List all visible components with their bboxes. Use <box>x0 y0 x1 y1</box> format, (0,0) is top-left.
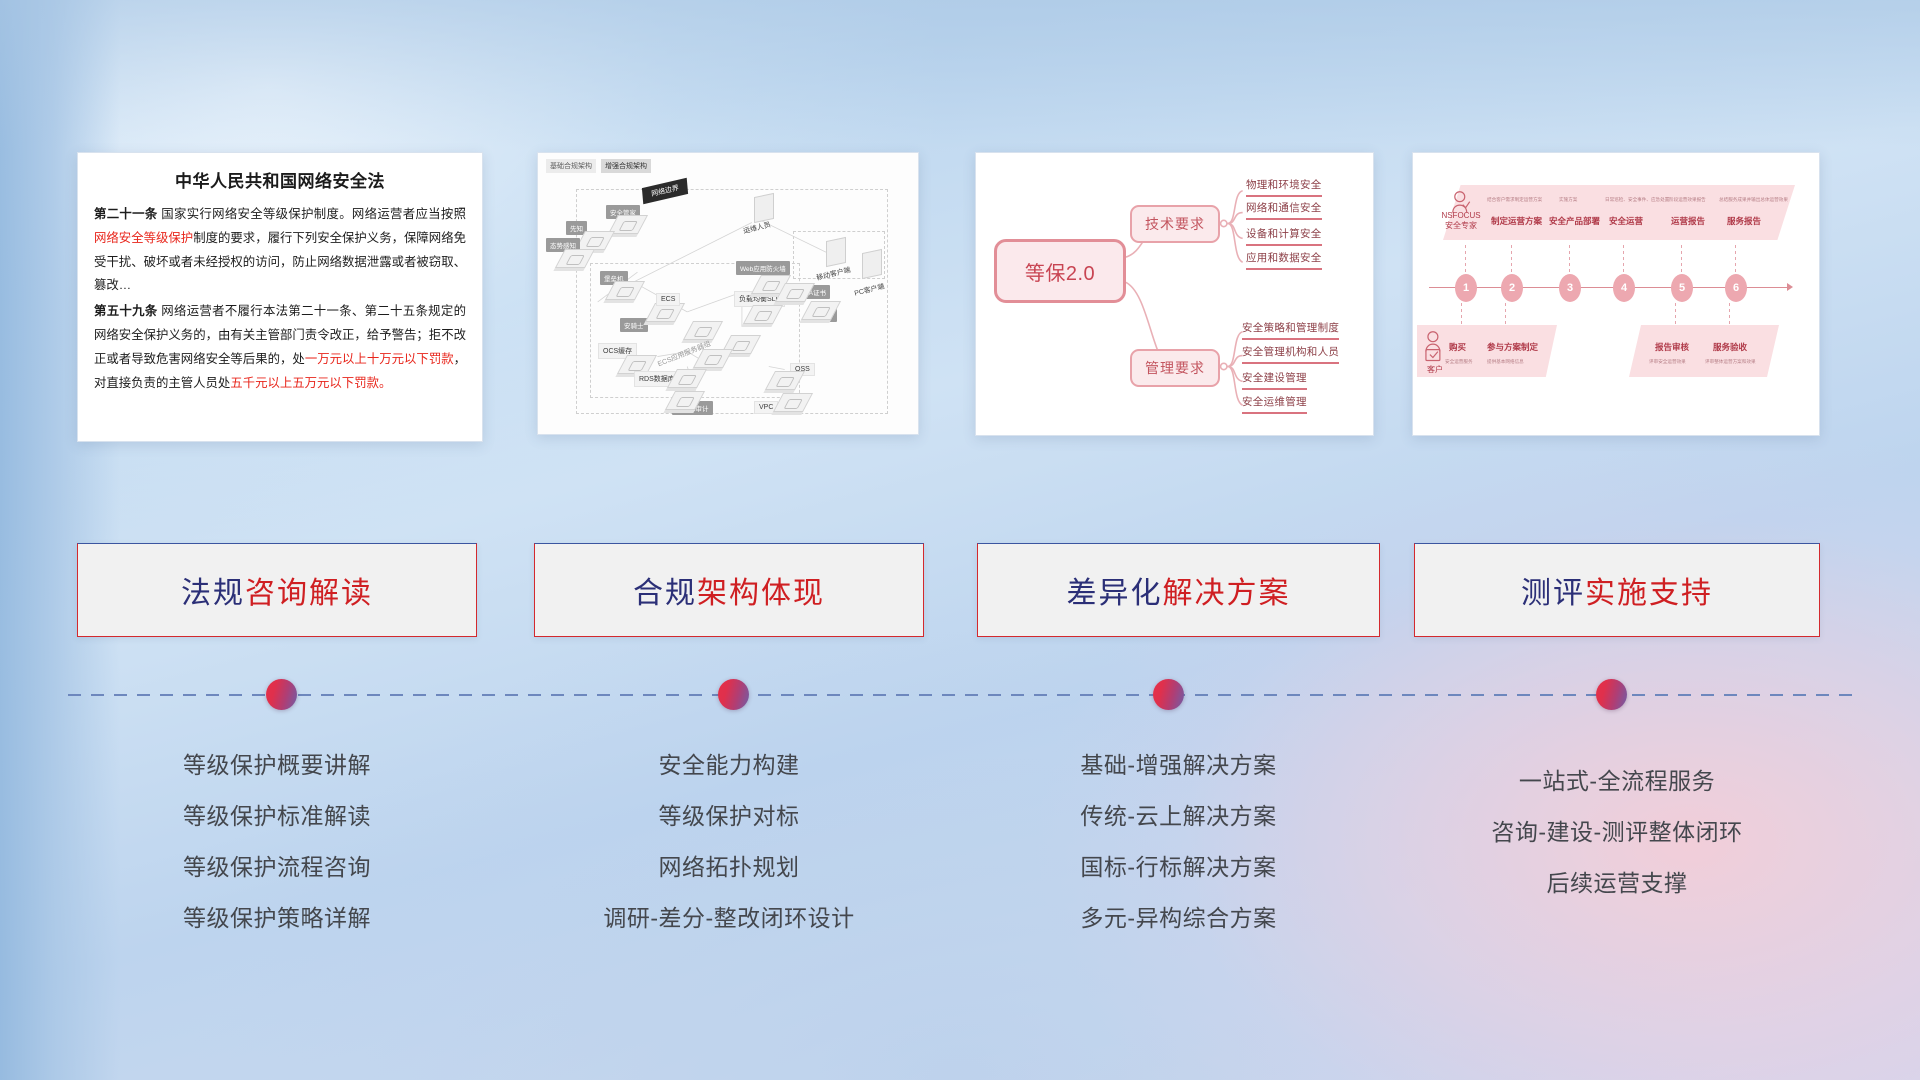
timeline-marker-3[interactable] <box>1153 679 1184 710</box>
node-ops-staff-icon <box>754 193 774 223</box>
section-title-box-2[interactable]: 合规架构体现 <box>534 543 924 637</box>
mindmap-branch-management: 管理要求 <box>1130 349 1220 387</box>
mindmap-leaf-mgmt-2: 安全建设管理 <box>1242 370 1307 390</box>
card-cybersecurity-law[interactable]: 中华人民共和国网络安全法 第二十一条 国家实行网络安全等级保护制度。网络运营者应… <box>77 152 483 442</box>
list-item: 等级保护策略详解 <box>77 893 477 944</box>
section-items-2: 安全能力构建 等级保护对标 网络拓扑规划 调研-差分-整改闭环设计 <box>534 740 924 944</box>
node-pc-client-icon <box>862 249 882 279</box>
section-title-3: 差异化解决方案 <box>1067 568 1291 612</box>
timeline-tick-b5 <box>1675 303 1676 327</box>
article-59-penalty-2: 五千元以上五万元以下罚款。 <box>230 376 391 390</box>
timeline-step-2[interactable]: 2 <box>1501 274 1523 302</box>
preview-cards-row: 中华人民共和国网络安全法 第二十一条 国家实行网络安全等级保护制度。网络运营者应… <box>0 152 1920 442</box>
timeline-tick-b2 <box>1505 303 1506 327</box>
list-item: 等级保护标准解读 <box>77 791 477 842</box>
node-anqishi: 安骑士 <box>620 318 648 332</box>
mindmap-leaf-tech-2: 设备和计算安全 <box>1246 226 1322 246</box>
article-59-penalty-1: 一万元以上十万元以下罚款 <box>305 352 454 366</box>
section-title-box-1[interactable]: 法规咨询解读 <box>77 543 477 637</box>
list-item: 多元-异构综合方案 <box>977 893 1380 944</box>
mindmap: 等保2.0 技术要求 管理要求 物理和环境安全 网络和通信安全 设备和计算安全 … <box>976 153 1373 435</box>
card-compliance-architecture[interactable]: 基础合规架构 增强合规架构 网络边界 安全管家 先知 态势感知 <box>537 152 919 435</box>
timeline-step-4[interactable]: 4 <box>1613 274 1635 302</box>
list-item: 调研-差分-整改闭环设计 <box>534 893 924 944</box>
list-item: 等级保护流程咨询 <box>77 842 477 893</box>
mindmap-leaf-mgmt-3: 安全运维管理 <box>1242 394 1307 414</box>
nsfocus-role: 安全专家 <box>1445 221 1477 230</box>
article-21-part1: 国家实行网络安全等级保护制度。网络运营者应当按照 <box>158 207 466 221</box>
list-item: 等级保护概要讲解 <box>77 740 477 791</box>
timeline-bottom-sub-0: 安全运营服务 <box>1445 359 1473 365</box>
node-ecs: ECS <box>656 293 680 306</box>
list-item: 等级保护对标 <box>534 791 924 842</box>
timeline-top-sub-3: 阶段运营效果报告 <box>1669 197 1706 203</box>
timeline-bottom-title-2: 报告审核 <box>1655 341 1689 353</box>
mindmap-leaf-tech-3: 应用和数据安全 <box>1246 250 1322 270</box>
section-title-1-red: 咨询解读 <box>245 577 373 610</box>
article-59-label: 第五十九条 <box>94 304 158 318</box>
timeline-step-6[interactable]: 6 <box>1725 274 1747 302</box>
card-nsfocus-service-timeline[interactable]: NSFOCUS 安全专家 客户 结合客户需求制定运营方案 制定运营方案 实施方案… <box>1412 152 1820 436</box>
timeline-dashed-line <box>68 694 1858 696</box>
timeline-top-sub-2: 日常巡检、安全事件、应急处置 <box>1605 197 1669 203</box>
timeline-top-title-4: 服务报告 <box>1727 215 1761 227</box>
timeline-arrow-icon <box>1787 283 1793 291</box>
timeline-top-title-3: 运营报告 <box>1671 215 1705 227</box>
section-title-4-navy: 测评 <box>1521 577 1585 610</box>
law-document: 中华人民共和国网络安全法 第二十一条 国家实行网络安全等级保护制度。网络运营者应… <box>78 153 482 406</box>
section-title-4-red: 实施支持 <box>1585 577 1713 610</box>
section-items-row: 等级保护概要讲解 等级保护标准解读 等级保护流程咨询 等级保护策略详解 安全能力… <box>0 740 1920 970</box>
section-title-2: 合规架构体现 <box>633 568 825 612</box>
timeline-bottom-title-3: 服务验收 <box>1713 341 1747 353</box>
timeline-tick-2 <box>1511 245 1512 277</box>
mindmap-leaf-mgmt-1: 安全管理机构和人员 <box>1242 344 1339 364</box>
mindmap-root-node: 等保2.0 <box>994 239 1126 303</box>
timeline-bottom-sub-3: 评审整体运营方案和效果 <box>1705 359 1756 365</box>
architecture-diagram: 基础合规架构 增强合规架构 网络边界 安全管家 先知 态势感知 <box>538 153 918 434</box>
list-item: 安全能力构建 <box>534 740 924 791</box>
article-21-highlight: 网络安全等级保护 <box>94 231 193 245</box>
section-title-3-red: 解决方案 <box>1163 577 1291 610</box>
section-title-1-navy: 法规 <box>181 577 245 610</box>
law-article-59: 第五十九条 网络运营者不履行本法第二十一条、第二十五条规定的网络安全保护义务的，… <box>94 300 466 395</box>
timeline-step-1[interactable]: 1 <box>1455 274 1477 302</box>
nsfocus-name: NSFOCUS <box>1441 211 1480 220</box>
section-title-2-red: 架构体现 <box>697 577 825 610</box>
timeline-top-title-1: 安全产品部署 <box>1549 215 1600 227</box>
timeline-top-sub-0: 结合客户需求制定运营方案 <box>1487 197 1542 203</box>
section-titles-row: 法规咨询解读 合规架构体现 差异化解决方案 测评实施支持 <box>0 543 1920 641</box>
list-item: 国标-行标解决方案 <box>977 842 1380 893</box>
node-waf: Web应用防火墙 <box>736 261 790 275</box>
node-mobile-client-icon <box>826 237 846 267</box>
timeline-step-5[interactable]: 5 <box>1671 274 1693 302</box>
timeline-tick-5 <box>1681 245 1682 277</box>
background-top-glow <box>0 0 1920 150</box>
section-items-1: 等级保护概要讲解 等级保护标准解读 等级保护流程咨询 等级保护策略详解 <box>77 740 477 944</box>
timeline-tick-b6 <box>1729 303 1730 327</box>
law-title: 中华人民共和国网络安全法 <box>94 167 466 192</box>
timeline-tick-b1 <box>1461 303 1462 327</box>
section-title-box-3[interactable]: 差异化解决方案 <box>977 543 1380 637</box>
mindmap-leaf-mgmt-0: 安全策略和管理制度 <box>1242 320 1339 340</box>
section-title-3-navy: 差异化 <box>1067 577 1163 610</box>
mindmap-branch-technical: 技术要求 <box>1130 205 1220 243</box>
timeline-bottom-sub-1: 提供基本网络信息 <box>1487 359 1524 365</box>
timeline-top-sub-1: 实施方案 <box>1559 197 1577 203</box>
timeline-tick-1 <box>1465 245 1466 277</box>
list-item: 一站式-全流程服务 <box>1414 756 1820 807</box>
timeline-top-title-2: 安全运营 <box>1609 215 1643 227</box>
timeline-top-sub-4: 总结服务成果并输出总体运营效果 <box>1719 197 1788 203</box>
section-title-2-navy: 合规 <box>633 577 697 610</box>
timeline-bottom-sub-2: 评审安全运营效果 <box>1649 359 1686 365</box>
section-title-1: 法规咨询解读 <box>181 568 373 612</box>
timeline-marker-4[interactable] <box>1596 679 1627 710</box>
list-item: 基础-增强解决方案 <box>977 740 1380 791</box>
list-item: 后续运营支撑 <box>1414 858 1820 909</box>
list-item: 咨询-建设-测评整体闭环 <box>1414 807 1820 858</box>
timeline-top-title-0: 制定运营方案 <box>1491 215 1542 227</box>
mindmap-leaf-tech-0: 物理和环境安全 <box>1246 177 1322 197</box>
timeline-tick-6 <box>1735 245 1736 277</box>
article-21-label: 第二十一条 <box>94 207 158 221</box>
nsfocus-expert-label: NSFOCUS 安全专家 <box>1439 211 1483 231</box>
timeline-marker-1[interactable] <box>266 679 297 710</box>
law-article-21: 第二十一条 国家实行网络安全等级保护制度。网络运营者应当按照网络安全等级保护制度… <box>94 203 466 298</box>
list-item: 传统-云上解决方案 <box>977 791 1380 842</box>
section-items-3: 基础-增强解决方案 传统-云上解决方案 国标-行标解决方案 多元-异构综合方案 <box>977 740 1380 944</box>
section-title-4: 测评实施支持 <box>1521 568 1713 612</box>
timeline-tick-3 <box>1569 245 1570 277</box>
list-item: 网络拓扑规划 <box>534 842 924 893</box>
timeline-marker-2[interactable] <box>718 679 749 710</box>
timeline-tick-4 <box>1623 245 1624 277</box>
service-timeline: NSFOCUS 安全专家 客户 结合客户需求制定运营方案 制定运营方案 实施方案… <box>1413 153 1819 435</box>
section-items-4: 一站式-全流程服务 咨询-建设-测评整体闭环 后续运营支撑 <box>1414 756 1820 909</box>
timeline-bottom-title-1: 参与方案制定 <box>1487 341 1538 353</box>
timeline-step-3[interactable]: 3 <box>1559 274 1581 302</box>
customer-label: 客户 <box>1421 365 1449 375</box>
card-dengbao-mindmap[interactable]: 等保2.0 技术要求 管理要求 物理和环境安全 网络和通信安全 设备和计算安全 … <box>975 152 1374 436</box>
section-title-box-4[interactable]: 测评实施支持 <box>1414 543 1820 637</box>
progress-timeline <box>68 694 1858 696</box>
timeline-bottom-title-0: 购买 <box>1449 341 1466 353</box>
mindmap-leaf-tech-1: 网络和通信安全 <box>1246 200 1322 220</box>
